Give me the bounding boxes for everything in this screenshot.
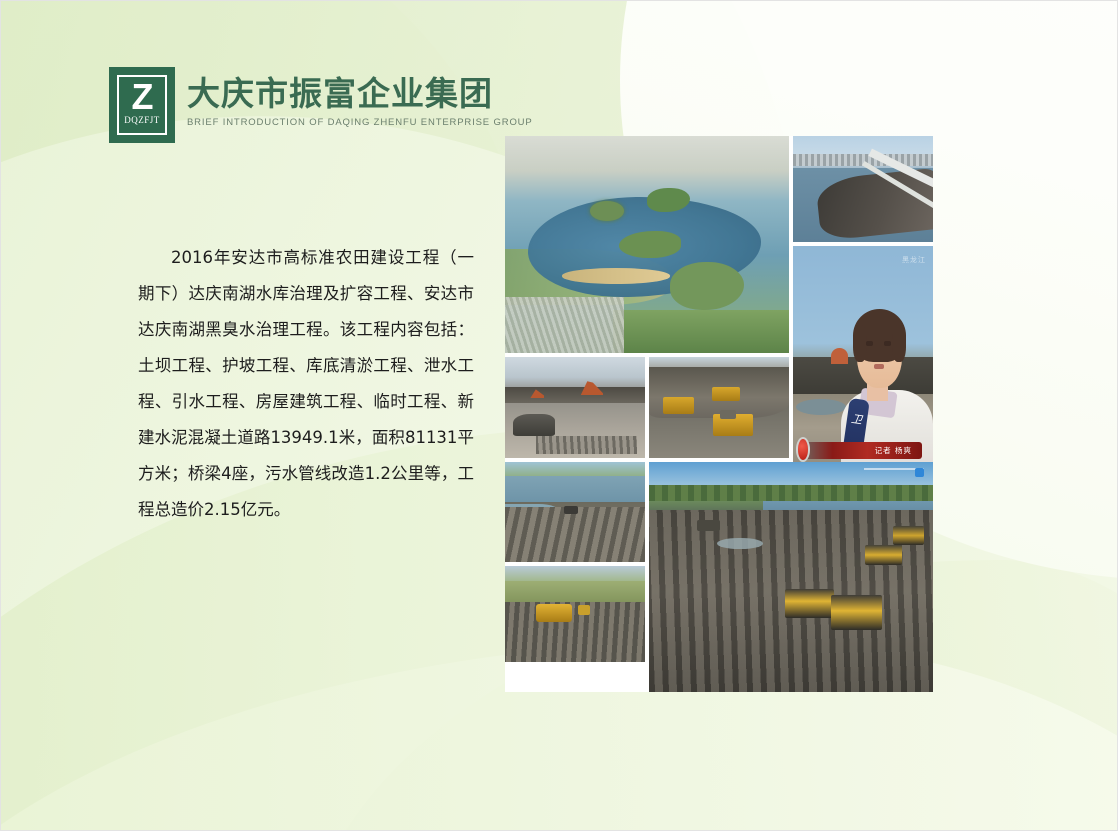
slide-canvas: Z DQZFJT 大庆市振富企业集团 BRIEF INTRODUCTION OF… [0,0,1118,831]
slide-border [0,0,1118,831]
